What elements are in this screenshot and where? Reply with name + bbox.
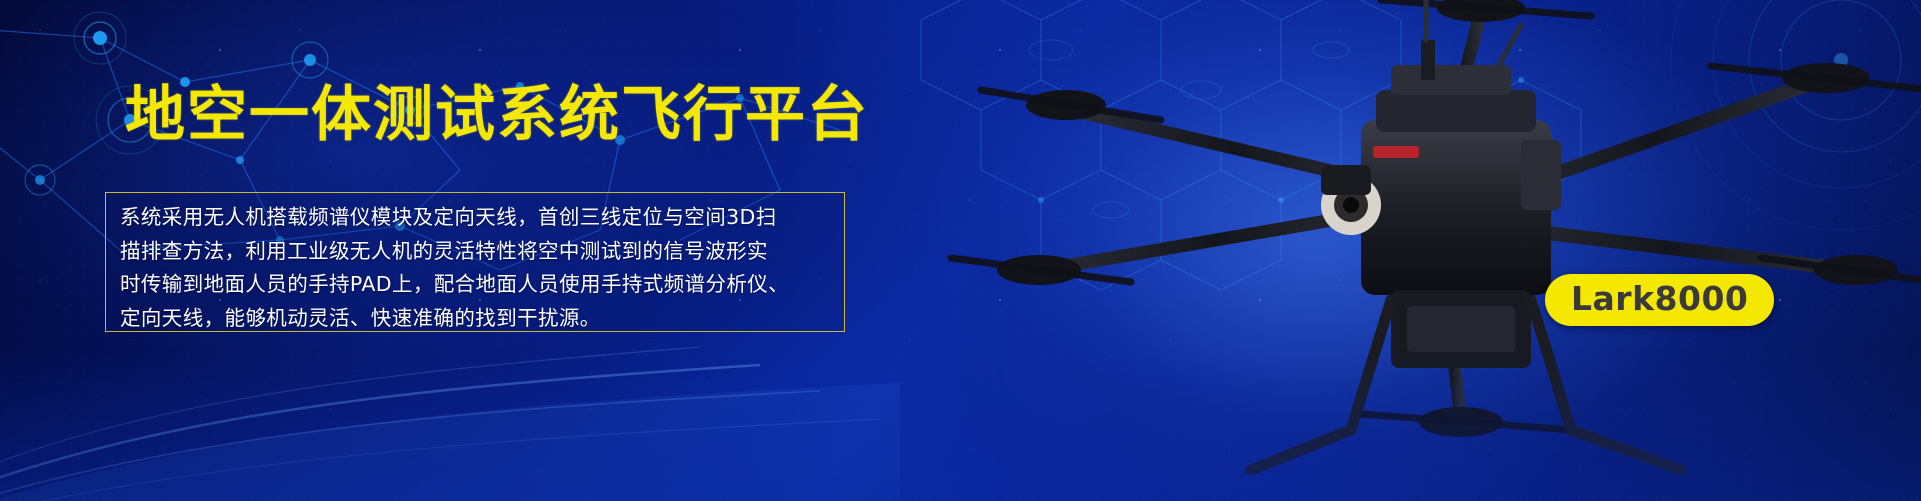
- description-line: 描排查方法，利用工业级无人机的灵活特性将空中测试到的信号波形实: [120, 235, 830, 269]
- product-model-badge: Lark8000: [1545, 274, 1774, 326]
- bottom-haze: [0, 351, 1921, 501]
- page-title: 地空一体测试系统飞行平台: [125, 84, 869, 146]
- description-line: 定向天线，能够机动灵活、快速准确的找到干扰源。: [120, 302, 830, 336]
- light-glow: [922, 0, 1702, 501]
- hexacopter-drone-photo: [921, 0, 1921, 501]
- description-line: 系统采用无人机搭载频谱仪模块及定向天线，首创三线定位与空间3D扫: [120, 201, 830, 235]
- hexagon-mesh-graphic: [861, 0, 1621, 310]
- promo-banner: 地空一体测试系统飞行平台 系统采用无人机搭载频谱仪模块及定向天线，首创三线定位与…: [0, 0, 1921, 501]
- description-line: 时传输到地面人员的手持PAD上，配合地面人员使用手持式频谱分析仪、: [120, 268, 830, 302]
- description-box: 系统采用无人机搭载频谱仪模块及定向天线，首创三线定位与空间3D扫 描排查方法，利…: [105, 192, 845, 332]
